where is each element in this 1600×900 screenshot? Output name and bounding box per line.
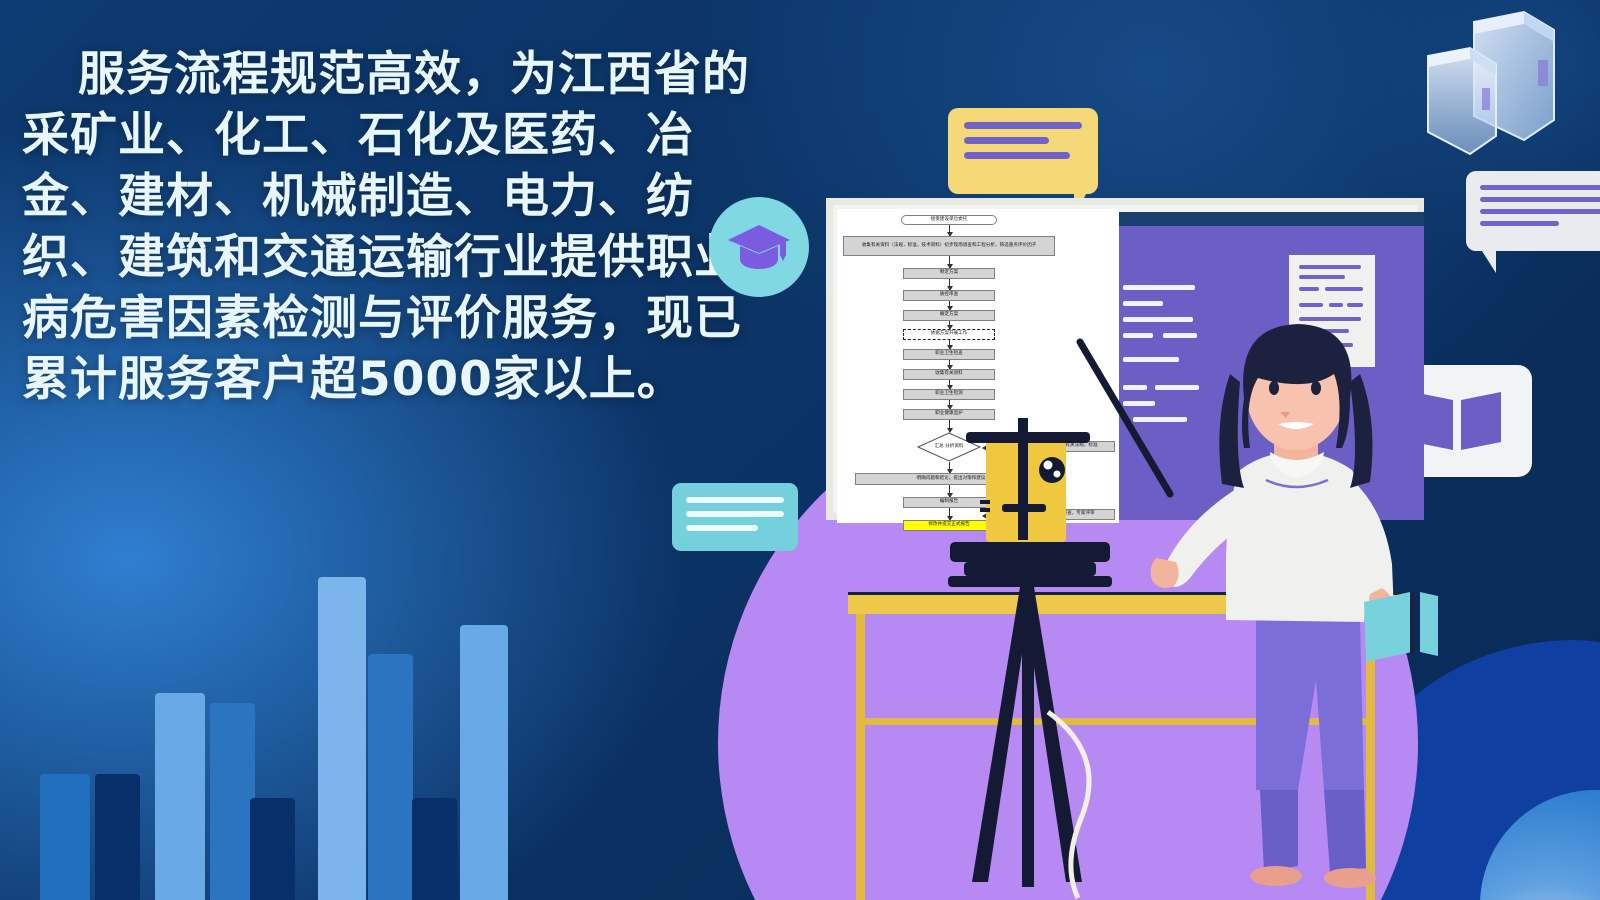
decorative-bar-chart: [0, 480, 460, 900]
chart-bar: [250, 798, 295, 900]
chart-bar: [368, 654, 413, 900]
chart-bar: [40, 774, 90, 900]
chart-bar: [210, 703, 255, 900]
flow-node-n6: 依据方案开展工作: [903, 329, 995, 340]
flow-node-n1: 接受建设单位委托: [901, 215, 997, 225]
flow-node-n2: 收集有关资料（法规，标准，技术资料）初步现场调查和工程分析，筛选重点评价因子: [843, 236, 1055, 256]
yellow-speech-bubble: [948, 108, 1098, 194]
tripod-projector: [930, 412, 1150, 900]
graduation-cap-icon: [726, 221, 792, 273]
flow-node-n5: 确定方案: [903, 310, 995, 321]
teal-info-card: [672, 483, 798, 551]
flow-node-n3: 制定方案: [903, 268, 995, 279]
chart-bar: [95, 774, 140, 900]
page-title: 服务流程规范高效，为江西省的采矿业、化工、石化及医药、冶金、建材、机械制造、电力…: [22, 44, 762, 411]
chart-bar: [460, 625, 508, 900]
flow-node-n9: 职业卫生检测: [903, 389, 995, 400]
flow-node-n4: 质控审查: [903, 290, 995, 301]
poster-canvas: 服务流程规范高效，为江西省的采矿业、化工、石化及医药、冶金、建材、机械制造、电力…: [0, 0, 1600, 900]
flow-node-n8: 收集有关资料: [903, 369, 995, 380]
bubble-tail: [1482, 251, 1496, 273]
board-top-strip: [1113, 212, 1424, 226]
graduation-cap-badge: [709, 197, 809, 297]
flow-node-n7: 职业卫生检查: [903, 349, 995, 360]
chart-bar: [318, 577, 366, 900]
white-speech-bubble: [1466, 171, 1600, 251]
chart-bar: [412, 798, 457, 900]
classroom-illustration: 接受建设单位委托 收集有关资料（法规，标准，技术资料）初步现场调查和工程分析，筛…: [826, 198, 1426, 900]
desk-leg-left: [856, 614, 865, 900]
glass-books-decoration: [1378, 4, 1598, 179]
chart-bar: [155, 693, 205, 900]
